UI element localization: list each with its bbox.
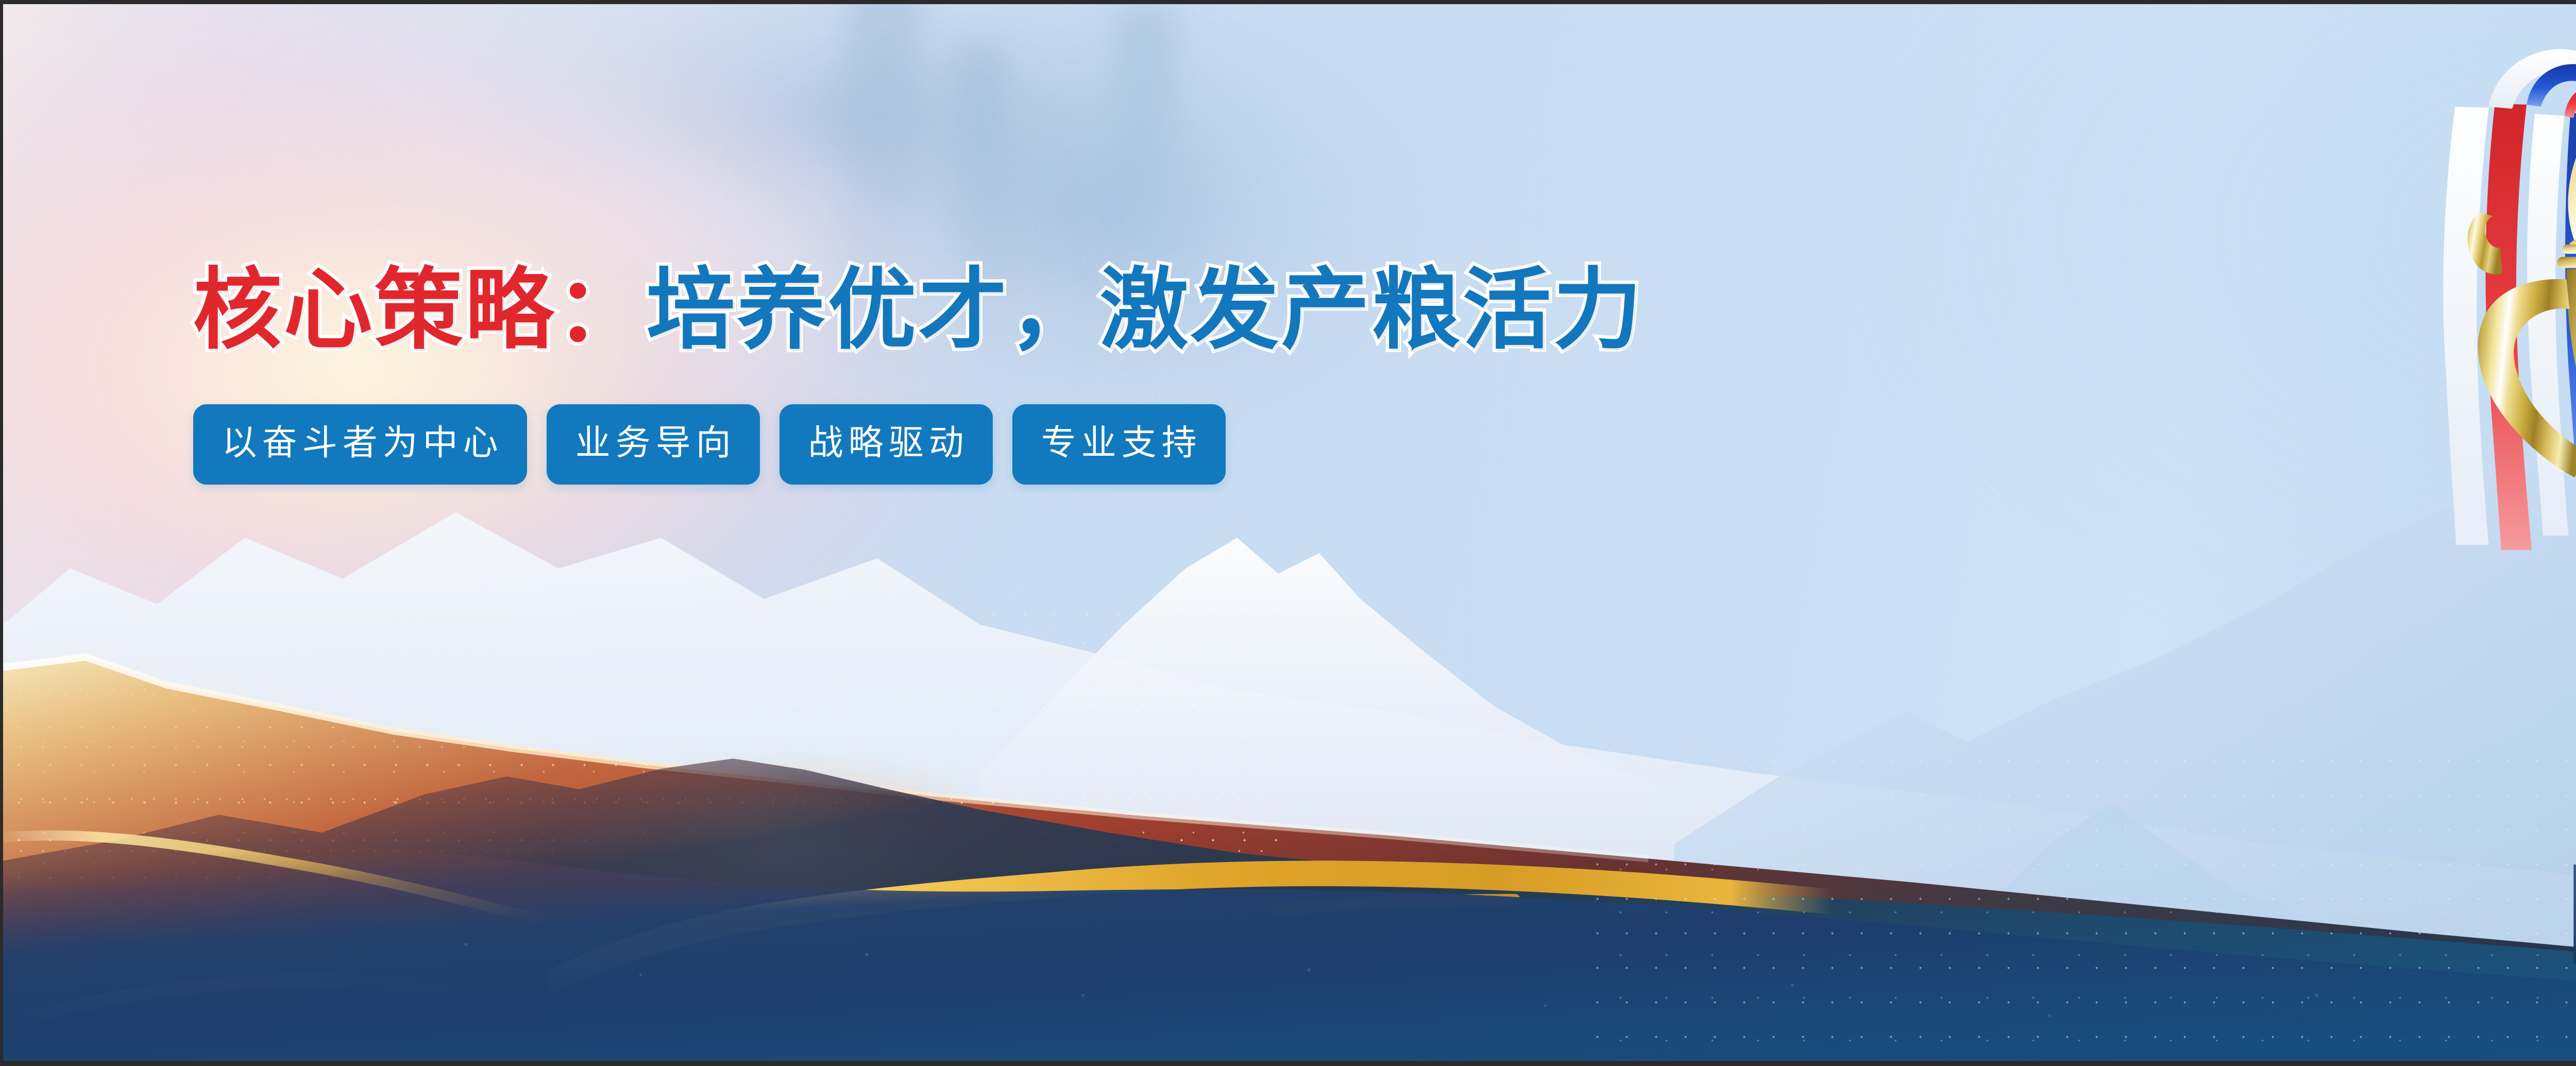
trophy-base-icon	[2574, 760, 2576, 964]
tag-button-0[interactable]: 以奋斗者为中心	[193, 404, 527, 485]
hero-banner: 核心策略：培养优才，激发产粮活力 以奋斗者为中心 业务导向 战略驱动 专业支持	[0, 0, 2576, 1066]
headline-blue-segment: 培养优才，激发产粮活力	[647, 258, 1644, 362]
tag-button-2[interactable]: 战略驱动	[779, 404, 993, 485]
page-title: 核心策略：培养优才，激发产粮活力	[193, 263, 2259, 357]
tag-list: 以奋斗者为中心 业务导向 战略驱动 专业支持	[193, 404, 2259, 485]
trophy-cup-icon	[2324, 0, 2576, 1061]
tag-button-3[interactable]: 专业支持	[1012, 404, 1226, 485]
headline-red-segment: 核心策略：	[193, 258, 647, 362]
banner-content: 核心策略：培养优才，激发产粮活力 以奋斗者为中心 业务导向 战略驱动 专业支持	[193, 263, 2259, 485]
tag-button-1[interactable]: 业务导向	[547, 404, 760, 485]
